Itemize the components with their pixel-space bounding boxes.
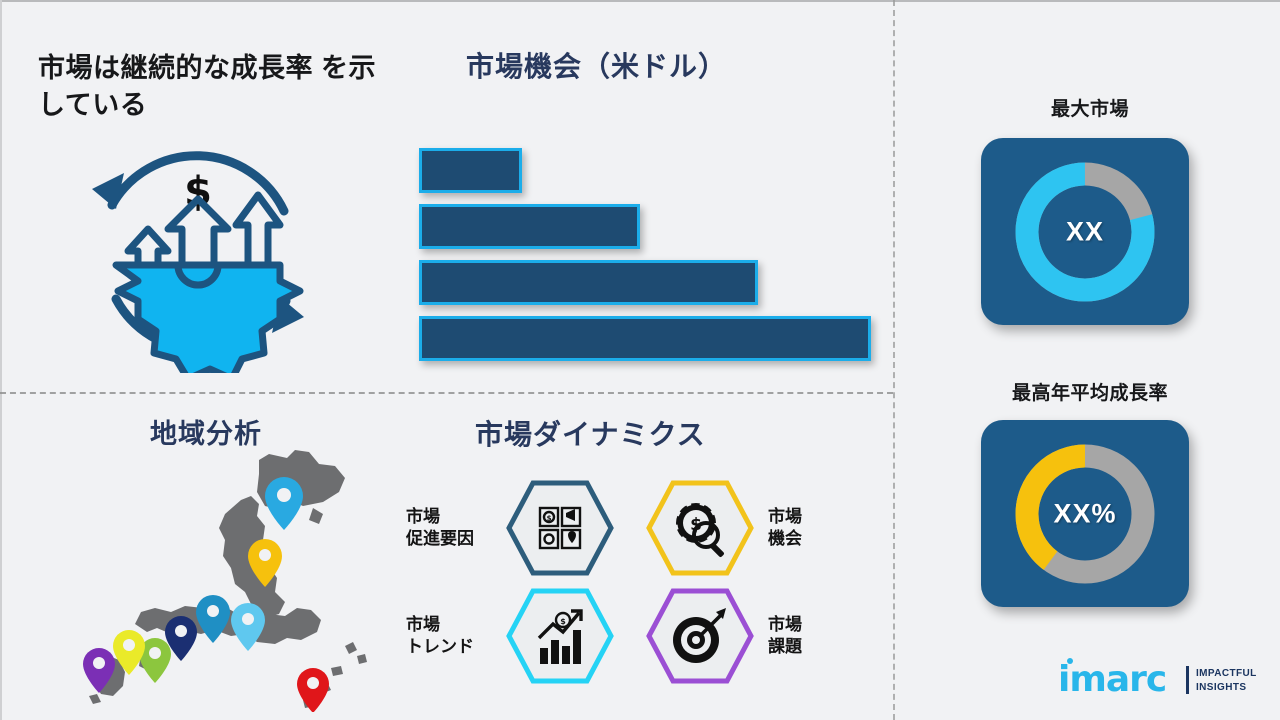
market-trends-hex[interactable]: $ (506, 586, 614, 686)
market-drivers-item[interactable]: 市場 促進要因 $ (400, 478, 620, 578)
growth-gear-arrows-icon: $ (72, 133, 324, 373)
dynamics-section-title: 市場ダイナミクス (475, 418, 706, 452)
logo-divider (1186, 666, 1189, 694)
imarc-logo: imarc IMPACTFUL INSIGHTS (1058, 658, 1258, 704)
pin-chubu (196, 595, 230, 643)
largest-market-card: XX (981, 138, 1189, 325)
market-challenges-item[interactable]: 市場 課題 (640, 586, 860, 686)
japan-map (45, 450, 395, 712)
market-trends-item[interactable]: 市場 トレンド $ (400, 586, 620, 686)
opportunity-section-title: 市場機会（米ドル） (466, 50, 727, 84)
market-opportunities-hex[interactable]: $ (646, 478, 754, 578)
largest-market-value: XX (981, 216, 1189, 247)
bar-3 (419, 260, 758, 305)
pin-kanto (231, 603, 265, 651)
market-opportunity-bar-chart (419, 148, 889, 353)
growth-section-title: 市場は継続的な成長率 を示している (38, 50, 398, 125)
horizontal-dashed-divider (0, 392, 893, 394)
bar-4 (419, 316, 871, 361)
left-edge-rule (0, 0, 2, 720)
market-opportunities-label: 市場 機会 (768, 506, 864, 550)
market-opportunities-item[interactable]: $ 市場 機会 (640, 478, 860, 578)
market-challenges-hex[interactable] (646, 586, 754, 686)
market-drivers-hex[interactable]: $ (506, 478, 614, 578)
largest-market-title: 最大市場 (960, 94, 1220, 121)
logo-tagline: IMPACTFUL INSIGHTS (1196, 667, 1257, 694)
pin-okinawa (297, 668, 329, 712)
highest-cagr-card: XX% (981, 420, 1189, 607)
svg-text:$: $ (547, 515, 552, 523)
market-trends-label: 市場 トレンド (406, 614, 502, 658)
logo-wordmark: imarc (1058, 662, 1166, 698)
infographic-slide: 市場は継続的な成長率 を示している $ 市場機会（米ドル） 最大市場 (0, 0, 1280, 720)
svg-text:$: $ (560, 617, 566, 626)
highest-cagr-title: 最高年平均成長率 (952, 378, 1228, 405)
top-edge-rule (0, 0, 1280, 2)
market-drivers-label: 市場 促進要因 (406, 506, 502, 550)
bar-2 (419, 204, 640, 249)
pin-hokkaido (265, 477, 303, 530)
bar-1 (419, 148, 522, 193)
highest-cagr-value: XX% (981, 498, 1189, 529)
market-challenges-label: 市場 課題 (768, 614, 864, 658)
regional-section-title: 地域分析 (150, 418, 262, 450)
vertical-dashed-divider (893, 0, 895, 720)
market-dynamics-grid: 市場 促進要因 $ (400, 478, 840, 688)
